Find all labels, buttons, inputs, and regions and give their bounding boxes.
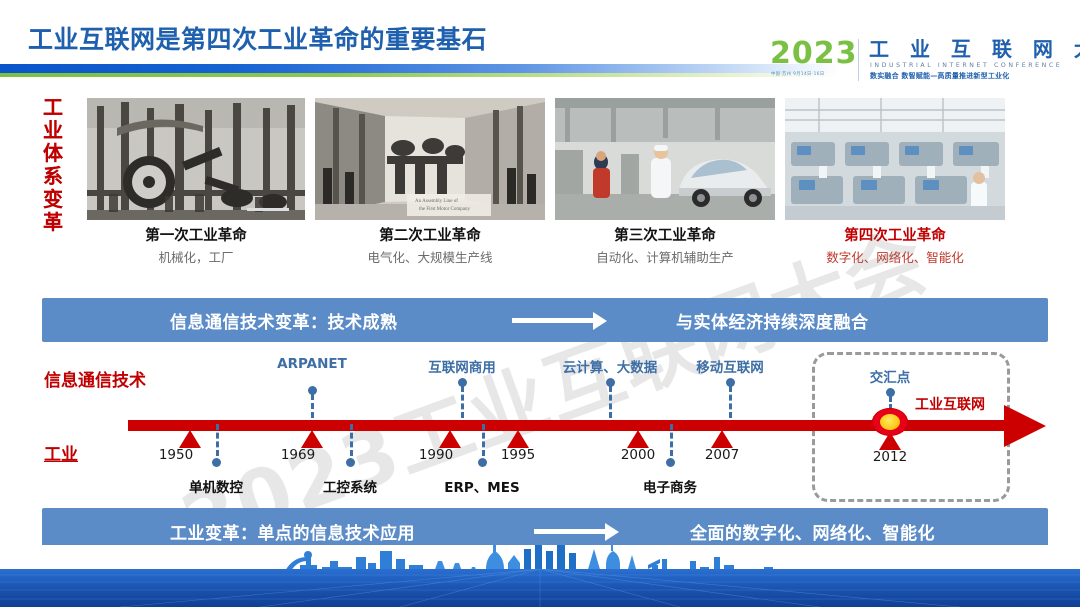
- timeline-year-label: 1995: [490, 447, 546, 463]
- svg-text:the First Motor Company: the First Motor Company: [419, 207, 470, 212]
- industry-event-stem: [482, 424, 485, 456]
- slide-root: 工业互联网是第四次工业革命的重要基石 2023 中国·苏州 9月14日-16日 …: [0, 0, 1080, 607]
- caption-fourth-revolution: 第四次工业革命 数字化、网络化、智能化: [785, 227, 1005, 267]
- industry-event-label: 电子商务: [620, 476, 720, 496]
- logo-year: 2023: [770, 38, 858, 69]
- conference-logo: 2023 中国·苏州 9月14日-16日 工 业 互 联 网 大 会 INDUS…: [770, 38, 1070, 82]
- caption-desc: 电气化、大规模生产线: [315, 249, 545, 267]
- ict-event-label: 移动互联网: [674, 356, 786, 376]
- logo-date: 中国·苏州 9月14日-16日: [771, 71, 824, 77]
- footer-city-skyline: [0, 545, 1080, 607]
- banner-left-text: 工业变革：单点的信息技术应用: [170, 519, 415, 544]
- timeline-marker-triangle: [507, 430, 529, 448]
- caption-desc: 机械化，工厂: [87, 249, 305, 267]
- footer-grid-pattern: [0, 569, 1080, 607]
- ict-event-label: 互联网商用: [412, 356, 512, 376]
- ict-event-stem: [609, 386, 612, 418]
- industry-event-dot: [346, 458, 355, 467]
- timeline-year-label: 2000: [610, 447, 666, 463]
- ict-event-label: ARPANET: [262, 356, 362, 372]
- logo-subtitle: 数实融合 数智赋能—高质量推进新型工业化: [870, 71, 1009, 81]
- ict-event-stem: [461, 386, 464, 418]
- timeline-year-label: 1969: [270, 447, 326, 463]
- side-label-char-1: 业: [40, 119, 66, 142]
- photo-fourth-revolution: [785, 98, 1005, 220]
- caption-desc: 自动化、计算机辅助生产: [555, 249, 775, 267]
- caption-second-revolution: 第二次工业革命 电气化、大规模生产线: [315, 227, 545, 267]
- header-divider-green: [0, 73, 840, 77]
- ict-event-stem: [311, 394, 314, 418]
- industry-event-label: ERP、MES: [432, 476, 532, 496]
- ict-event-label: 交汇点: [840, 366, 940, 386]
- caption-title: 第三次工业革命: [555, 227, 775, 246]
- timeline-marker-triangle: [439, 430, 461, 448]
- banner-left-text: 信息通信技术变革：技术成熟: [170, 308, 398, 333]
- timeline-year-label: 1950: [148, 447, 204, 463]
- caption-first-revolution: 第一次工业革命 机械化，工厂: [87, 227, 305, 267]
- arrow-right-icon: [512, 318, 594, 323]
- side-label-char-0: 工: [40, 96, 66, 119]
- photo-third-revolution: [555, 98, 775, 220]
- banner-ict-transformation: 信息通信技术变革：技术成熟 与实体经济持续深度融合: [42, 298, 1048, 342]
- logo-divider: [858, 39, 859, 81]
- caption-desc: 数字化、网络化、智能化: [785, 249, 1005, 267]
- timeline-marker-triangle: [301, 430, 323, 448]
- page-title: 工业互联网是第四次工业革命的重要基石: [28, 20, 487, 56]
- banner-right-text: 与实体经济持续深度融合: [676, 308, 869, 333]
- ict-event-stem: [729, 386, 732, 418]
- timeline-year-label: 2007: [694, 447, 750, 463]
- timeline-marker-triangle: [627, 430, 649, 448]
- industry-event-stem: [216, 424, 219, 456]
- industry-event-label: 单机数控: [166, 476, 266, 496]
- ict-event-label: 云计算、大数据: [548, 356, 672, 376]
- industry-event-dot: [666, 458, 675, 467]
- side-label-char-4: 变: [40, 188, 66, 211]
- caption-title: 第四次工业革命: [785, 227, 1005, 246]
- timeline-marker-triangle: [711, 430, 733, 448]
- industry-event-stem: [670, 424, 673, 456]
- row-label-industry: 工业: [44, 440, 78, 465]
- timeline-year-label: 2012: [862, 449, 918, 465]
- arrow-right-icon: [534, 529, 606, 534]
- row-label-ict: 信息通信技术: [44, 366, 146, 391]
- industry-event-dot: [212, 458, 221, 467]
- timeline-arrow-head-icon: [1004, 405, 1046, 447]
- industry-event-dot: [478, 458, 487, 467]
- photo-first-revolution: [87, 98, 305, 220]
- logo-conference-name-cn: 工 业 互 联 网 大 会: [869, 38, 1080, 61]
- side-label-char-3: 系: [40, 165, 66, 188]
- industry-event-stem: [350, 424, 353, 456]
- banner-right-text: 全面的数字化、网络化、智能化: [690, 519, 935, 544]
- section-label-industry-system: 工 业 体 系 变 革: [40, 96, 66, 234]
- timeline-marker-triangle: [179, 430, 201, 448]
- side-label-char-2: 体: [40, 142, 66, 165]
- caption-title: 第一次工业革命: [87, 227, 305, 246]
- side-label-char-5: 革: [40, 211, 66, 234]
- convergence-node: [872, 408, 908, 436]
- timeline-year-label: 1990: [408, 447, 464, 463]
- industrial-internet-label: 工业互联网: [915, 394, 985, 414]
- photo-second-revolution: An Assembly Line of the First Motor Comp…: [315, 98, 545, 220]
- caption-title: 第二次工业革命: [315, 227, 545, 246]
- caption-third-revolution: 第三次工业革命 自动化、计算机辅助生产: [555, 227, 775, 267]
- header-divider-blue: [0, 64, 840, 73]
- industry-event-label: 工控系统: [300, 476, 400, 496]
- svg-text:An Assembly Line of: An Assembly Line of: [415, 199, 458, 204]
- logo-conference-name-en: INDUSTRIAL INTERNET CONFERENCE: [870, 62, 1062, 69]
